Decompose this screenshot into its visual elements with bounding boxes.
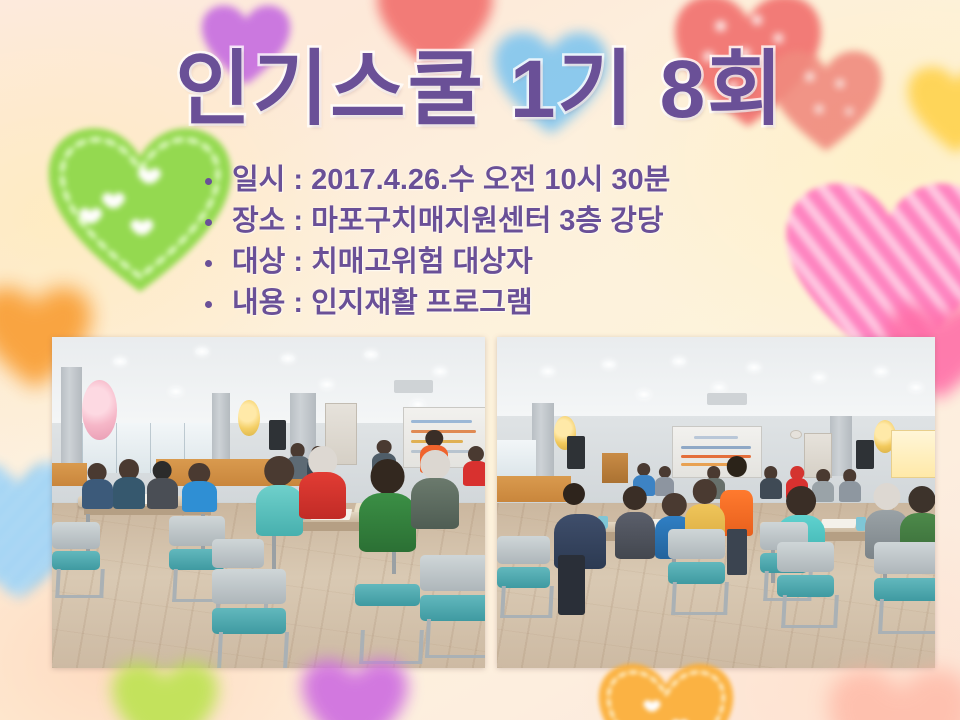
heart-green-bottom <box>110 660 220 720</box>
page-title: 인기스쿨 1기 8회 <box>0 48 960 132</box>
list-item-place: 장소 : 마포구치매지원센터 3층 강당 <box>196 201 896 242</box>
photo-right[interactable] <box>497 337 935 668</box>
list-item-target: 대상 : 치매고위험 대상자 <box>196 242 896 283</box>
info-list: 일시 : 2017.4.26.수 오전 10시 30분 장소 : 마포구치매지원… <box>196 160 896 324</box>
slide-canvas: 인기스쿨 1기 8회 일시 : 2017.4.26.수 오전 10시 30분 장… <box>0 0 960 720</box>
heart-peach-bottom-right <box>826 664 960 720</box>
photo-left[interactable] <box>52 337 485 668</box>
list-item-content: 내용 : 인지재활 프로그램 <box>196 283 896 324</box>
list-item-date: 일시 : 2017.4.26.수 오전 10시 30분 <box>196 160 896 201</box>
